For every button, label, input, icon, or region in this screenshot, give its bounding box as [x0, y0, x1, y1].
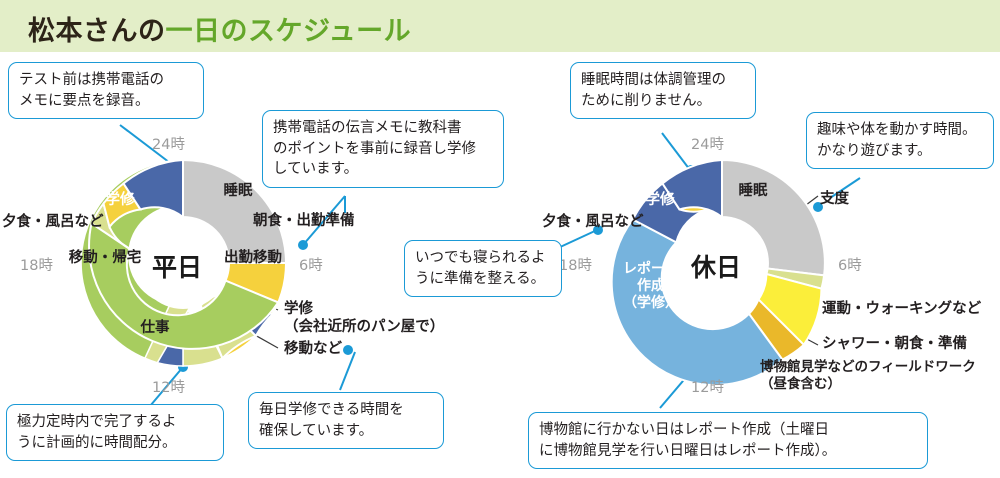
- callout-museum-report: 博物館に行かない日はレポート作成（土曜日 に博物館見学を行い日曜日はレポート作成…: [528, 412, 928, 469]
- weekday-label-study-night: 学修: [95, 192, 145, 209]
- callout-on-time-work: 極力定時内で完了するよ うに計画的に時間配分。: [6, 404, 224, 461]
- holiday-label-sleep: 睡眠: [728, 183, 778, 200]
- callout-sleep-ready: いつでも寝られるよ うに準備を整える。: [404, 240, 562, 297]
- weekday-label-breakfast-prep: 朝食・出勤準備: [253, 212, 355, 230]
- callout-sleep-health: 睡眠時間は体調管理の ために削りません。: [570, 62, 756, 119]
- holiday-label-exercise: 運動・ウォーキングなど: [822, 300, 981, 318]
- connector-c5: [558, 230, 597, 248]
- weekday-tick-6: 6時: [299, 254, 323, 275]
- holiday-label-prep: 支度: [820, 190, 849, 208]
- weekday-tick-24: 24時: [152, 133, 185, 154]
- weekday-label-commute-home: 移動・帰宅: [60, 250, 150, 267]
- holiday-center-label: 休日: [691, 248, 741, 284]
- holiday-tick-12: 12時: [691, 376, 724, 397]
- holiday-tick-6: 6時: [838, 254, 862, 275]
- callout-hobby-exercise: 趣味や体を動かす時間。 かなり遊びます。: [806, 112, 994, 169]
- weekday-tick-18: 18時: [20, 254, 53, 275]
- weekday-center-label: 平日: [152, 248, 202, 284]
- callout-voice-memo-study: 携帯電話の伝言メモに教科書 のポイントを事前に録音し学修 しています。: [262, 110, 504, 188]
- connector-c4: [340, 352, 355, 390]
- callout-test-memo: テスト前は携帯電話の メモに要点を録音。: [8, 62, 204, 119]
- holiday-label-shower: シャワー・朝食・準備: [822, 335, 967, 353]
- page-title: 松本さんの一日のスケジュール: [28, 9, 411, 48]
- holiday-label-fieldwork: 博物館見学などのフィールドワーク （昼食含む）: [760, 359, 976, 393]
- weekday-label-work: 仕事: [130, 320, 180, 337]
- weekday-label-move-etc: 移動など: [284, 340, 342, 358]
- holiday-label-report: レポート 作成 （学修）: [612, 261, 690, 311]
- weekday-label-study-bakery: 学修 （会社近所のパン屋で）: [284, 300, 444, 336]
- weekday-label-commute-work: 出勤移動: [215, 250, 291, 267]
- weekday-label-sleep: 睡眠: [213, 183, 263, 200]
- infographic-canvas: 松本さんの一日のスケジュール: [0, 0, 1000, 478]
- page-title-plain: 松本さんの: [28, 16, 166, 47]
- holiday-label-study-night: 学修: [635, 192, 685, 209]
- weekday-label-dinner-bath: 夕食・風呂など: [2, 213, 104, 231]
- callout-daily-study-time: 毎日学修できる時間を 確保しています。: [248, 392, 444, 449]
- holiday-tick-24: 24時: [691, 133, 724, 154]
- holiday-tick-18: 18時: [559, 254, 592, 275]
- page-title-accent: 一日のスケジュール: [166, 16, 412, 47]
- weekday-tick-12: 12時: [152, 376, 185, 397]
- holiday-label-dinner-bath: 夕食・風呂など: [542, 213, 644, 231]
